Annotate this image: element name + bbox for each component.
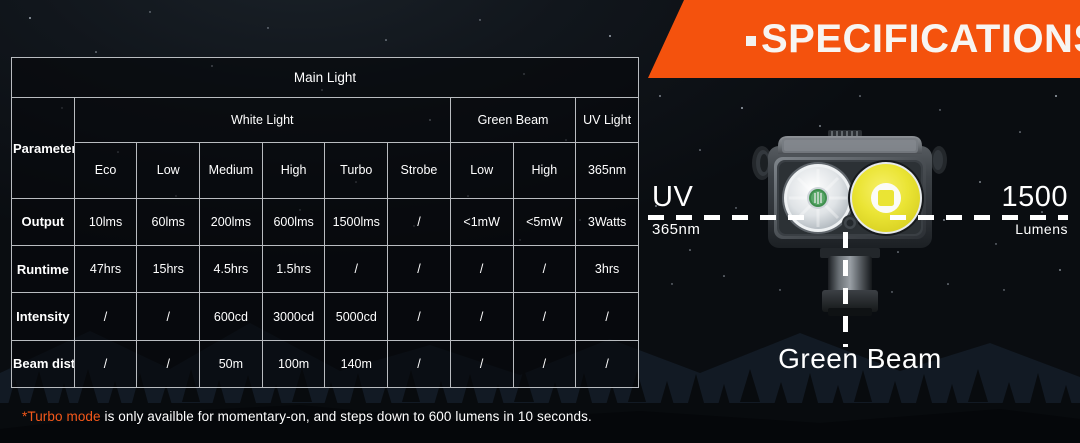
table-row: Runtime 47hrs 15hrs 4.5hrs 1.5hrs / / / …: [12, 246, 639, 293]
cell-beam-high: 100m: [262, 340, 325, 387]
callout-green-beam: Green Beam: [710, 345, 1010, 373]
main-light-group-header: Main Light: [12, 58, 639, 98]
cell-beam-green-low: /: [450, 340, 513, 387]
callout-uv-title: UV: [652, 183, 700, 212]
cell-intensity-medium: 600cd: [200, 293, 263, 340]
callout-lumens-title: 1500: [1000, 183, 1068, 212]
cell-runtime-eco: 47hrs: [74, 246, 137, 293]
cell-beam-green-high: /: [513, 340, 576, 387]
mode-header-high: High: [262, 142, 325, 198]
footnote-text: is only availble for momentary-on, and s…: [101, 409, 592, 424]
mode-header-medium: Medium: [200, 142, 263, 198]
callout-uv: UV 365nm: [652, 183, 700, 237]
row-label-output: Output: [12, 198, 75, 245]
cell-output-eco: 10lms: [74, 198, 137, 245]
group-header-uv-light: UV Light: [576, 98, 639, 142]
cell-output-high: 600lms: [262, 198, 325, 245]
cell-output-low: 60lms: [137, 198, 200, 245]
callout-leader-green-beam: [843, 232, 848, 347]
cell-output-green-low: <1mW: [450, 198, 513, 245]
specifications-banner: SPECIFICATIONS: [648, 0, 1080, 78]
banner-title: SPECIFICATIONS: [761, 19, 1080, 59]
cell-output-uv: 3Watts: [576, 198, 639, 245]
cell-runtime-strobe: /: [388, 246, 451, 293]
cell-beam-uv: /: [576, 340, 639, 387]
cell-runtime-turbo: /: [325, 246, 388, 293]
cell-runtime-uv: 3hrs: [576, 246, 639, 293]
callout-lumens: 1500 Lumens: [1000, 183, 1068, 236]
mode-header-eco: Eco: [74, 142, 137, 198]
cell-intensity-eco: /: [74, 293, 137, 340]
footnote-highlight: *Turbo mode: [22, 409, 101, 424]
mode-header-strobe: Strobe: [388, 142, 451, 198]
product-image-headlamp: [750, 130, 950, 340]
cell-intensity-high: 3000cd: [262, 293, 325, 340]
cell-output-turbo: 1500lms: [325, 198, 388, 245]
mode-header-uv-365nm: 365nm: [576, 142, 639, 198]
cell-runtime-medium: 4.5hrs: [200, 246, 263, 293]
mode-header-low: Low: [137, 142, 200, 198]
table-row: Intensity / / 600cd 3000cd 5000cd / / / …: [12, 293, 639, 340]
specifications-table: Main Light Parameter White Light Green B…: [11, 57, 639, 388]
cell-intensity-green-low: /: [450, 293, 513, 340]
cell-intensity-low: /: [137, 293, 200, 340]
table-row: Beam distance / / 50m 100m 140m / / / /: [12, 340, 639, 387]
table-row-mode-headers: Eco Low Medium High Turbo Strobe Low Hig…: [12, 142, 639, 198]
cell-beam-eco: /: [74, 340, 137, 387]
table-row: Output 10lms 60lms 200lms 600lms 1500lms…: [12, 198, 639, 245]
callout-uv-subtitle: 365nm: [652, 222, 700, 237]
cell-beam-turbo: 140m: [325, 340, 388, 387]
cell-output-strobe: /: [388, 198, 451, 245]
square-bullet-icon: [746, 36, 756, 46]
cell-intensity-turbo: 5000cd: [325, 293, 388, 340]
cell-output-medium: 200lms: [200, 198, 263, 245]
row-label-runtime: Runtime: [12, 246, 75, 293]
table-row-group-headers: Parameter White Light Green Beam UV Ligh…: [12, 98, 639, 142]
cell-runtime-green-high: /: [513, 246, 576, 293]
cell-output-green-high: <5mW: [513, 198, 576, 245]
cell-beam-low: /: [137, 340, 200, 387]
cell-intensity-green-high: /: [513, 293, 576, 340]
parameter-column-header: Parameter: [12, 98, 75, 199]
mode-header-turbo: Turbo: [325, 142, 388, 198]
cell-intensity-strobe: /: [388, 293, 451, 340]
callout-lumens-subtitle: Lumens: [1000, 222, 1068, 236]
cell-beam-medium: 50m: [200, 340, 263, 387]
mode-header-green-high: High: [513, 142, 576, 198]
cell-intensity-uv: /: [576, 293, 639, 340]
cell-runtime-low: 15hrs: [137, 246, 200, 293]
cell-runtime-high: 1.5hrs: [262, 246, 325, 293]
group-header-green-beam: Green Beam: [450, 98, 575, 142]
row-label-intensity: Intensity: [12, 293, 75, 340]
group-header-white-light: White Light: [74, 98, 450, 142]
row-label-beam-distance: Beam distance: [12, 340, 75, 387]
cell-beam-strobe: /: [388, 340, 451, 387]
footnote: *Turbo mode is only availble for momenta…: [22, 409, 592, 424]
mode-header-green-low: Low: [450, 142, 513, 198]
specifications-slide: SPECIFICATIONS Main Light Parameter Whit…: [0, 0, 1080, 443]
cell-runtime-green-low: /: [450, 246, 513, 293]
table-row-main-group: Main Light: [12, 58, 639, 98]
callout-green-beam-title: Green Beam: [710, 345, 1010, 373]
